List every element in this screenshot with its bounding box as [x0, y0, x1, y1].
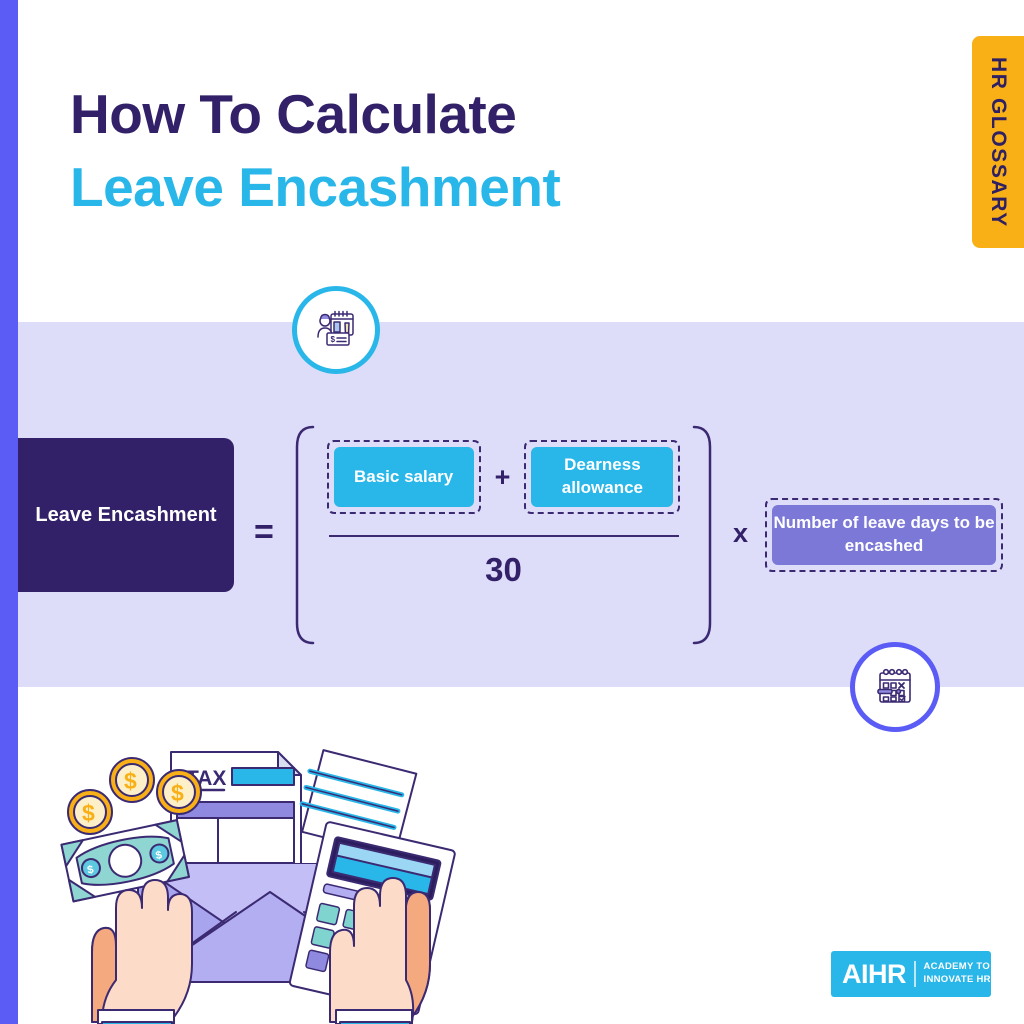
- leave-days-chip: Number of leave days to be encashed: [772, 505, 996, 565]
- hr-glossary-badge-label: HR GLOSSARY: [986, 57, 1010, 228]
- calendar-marked-days-glyph: [872, 664, 918, 710]
- title-line-2: Leave Encashment: [70, 151, 560, 224]
- dearness-allowance-chip: Dearness allowance: [531, 447, 673, 507]
- logo-divider: [914, 961, 916, 987]
- plus-operator: +: [491, 462, 515, 493]
- page-title: How To Calculate Leave Encashment: [70, 78, 560, 224]
- basic-salary-chip: Basic salary: [334, 447, 474, 507]
- aihr-tagline: ACADEMY TO INNOVATE HR: [924, 961, 991, 987]
- fraction-group: Basic salary + Dearness allowance 30: [291, 425, 716, 645]
- leave-days-dash-border: Number of leave days to be encashed: [765, 498, 1003, 572]
- left-accent-stripe: [0, 0, 18, 1024]
- basic-salary-dashed-wrapper: Basic salary: [327, 440, 481, 514]
- fraction-denominator: 30: [313, 551, 694, 589]
- tax-calculation-illustration: TAX: [46, 740, 486, 1024]
- aihr-tagline-line-1: ACADEMY TO: [924, 961, 991, 974]
- aihr-wordmark: AIHR: [831, 959, 906, 990]
- svg-text:$: $: [171, 780, 184, 806]
- employee-payroll-calendar-glyph: $: [313, 307, 359, 353]
- aihr-logo: AIHR ACADEMY TO INNOVATE HR: [831, 951, 991, 997]
- fraction-numerator: Basic salary + Dearness allowance: [313, 433, 694, 521]
- calendar-marked-days-icon: [850, 642, 940, 732]
- equals-operator: =: [254, 513, 274, 552]
- svg-text:$: $: [124, 768, 137, 794]
- fraction-bar: [329, 535, 679, 537]
- aihr-tagline-line-2: INNOVATE HR: [924, 974, 991, 987]
- title-line-1: How To Calculate: [70, 78, 560, 151]
- illustration-graphic: TAX: [46, 740, 486, 1024]
- svg-text:$: $: [82, 800, 95, 826]
- multiply-operator: x: [733, 518, 748, 549]
- svg-text:$: $: [331, 335, 336, 344]
- leave-days-dashed-wrapper: Number of leave days to be encashed: [765, 498, 1003, 572]
- infographic-page: HR GLOSSARY How To Calculate Leave Encas…: [0, 0, 1024, 1024]
- employee-payroll-calendar-icon: $: [292, 286, 380, 374]
- leave-encashment-result-label: Leave Encashment: [35, 501, 216, 529]
- left-hand: [92, 880, 192, 1024]
- hr-glossary-badge: HR GLOSSARY: [972, 36, 1024, 248]
- fraction: Basic salary + Dearness allowance 30: [313, 425, 694, 645]
- leave-encashment-result-box: Leave Encashment: [18, 438, 234, 592]
- dearness-allowance-dashed-wrapper: Dearness allowance: [524, 440, 680, 514]
